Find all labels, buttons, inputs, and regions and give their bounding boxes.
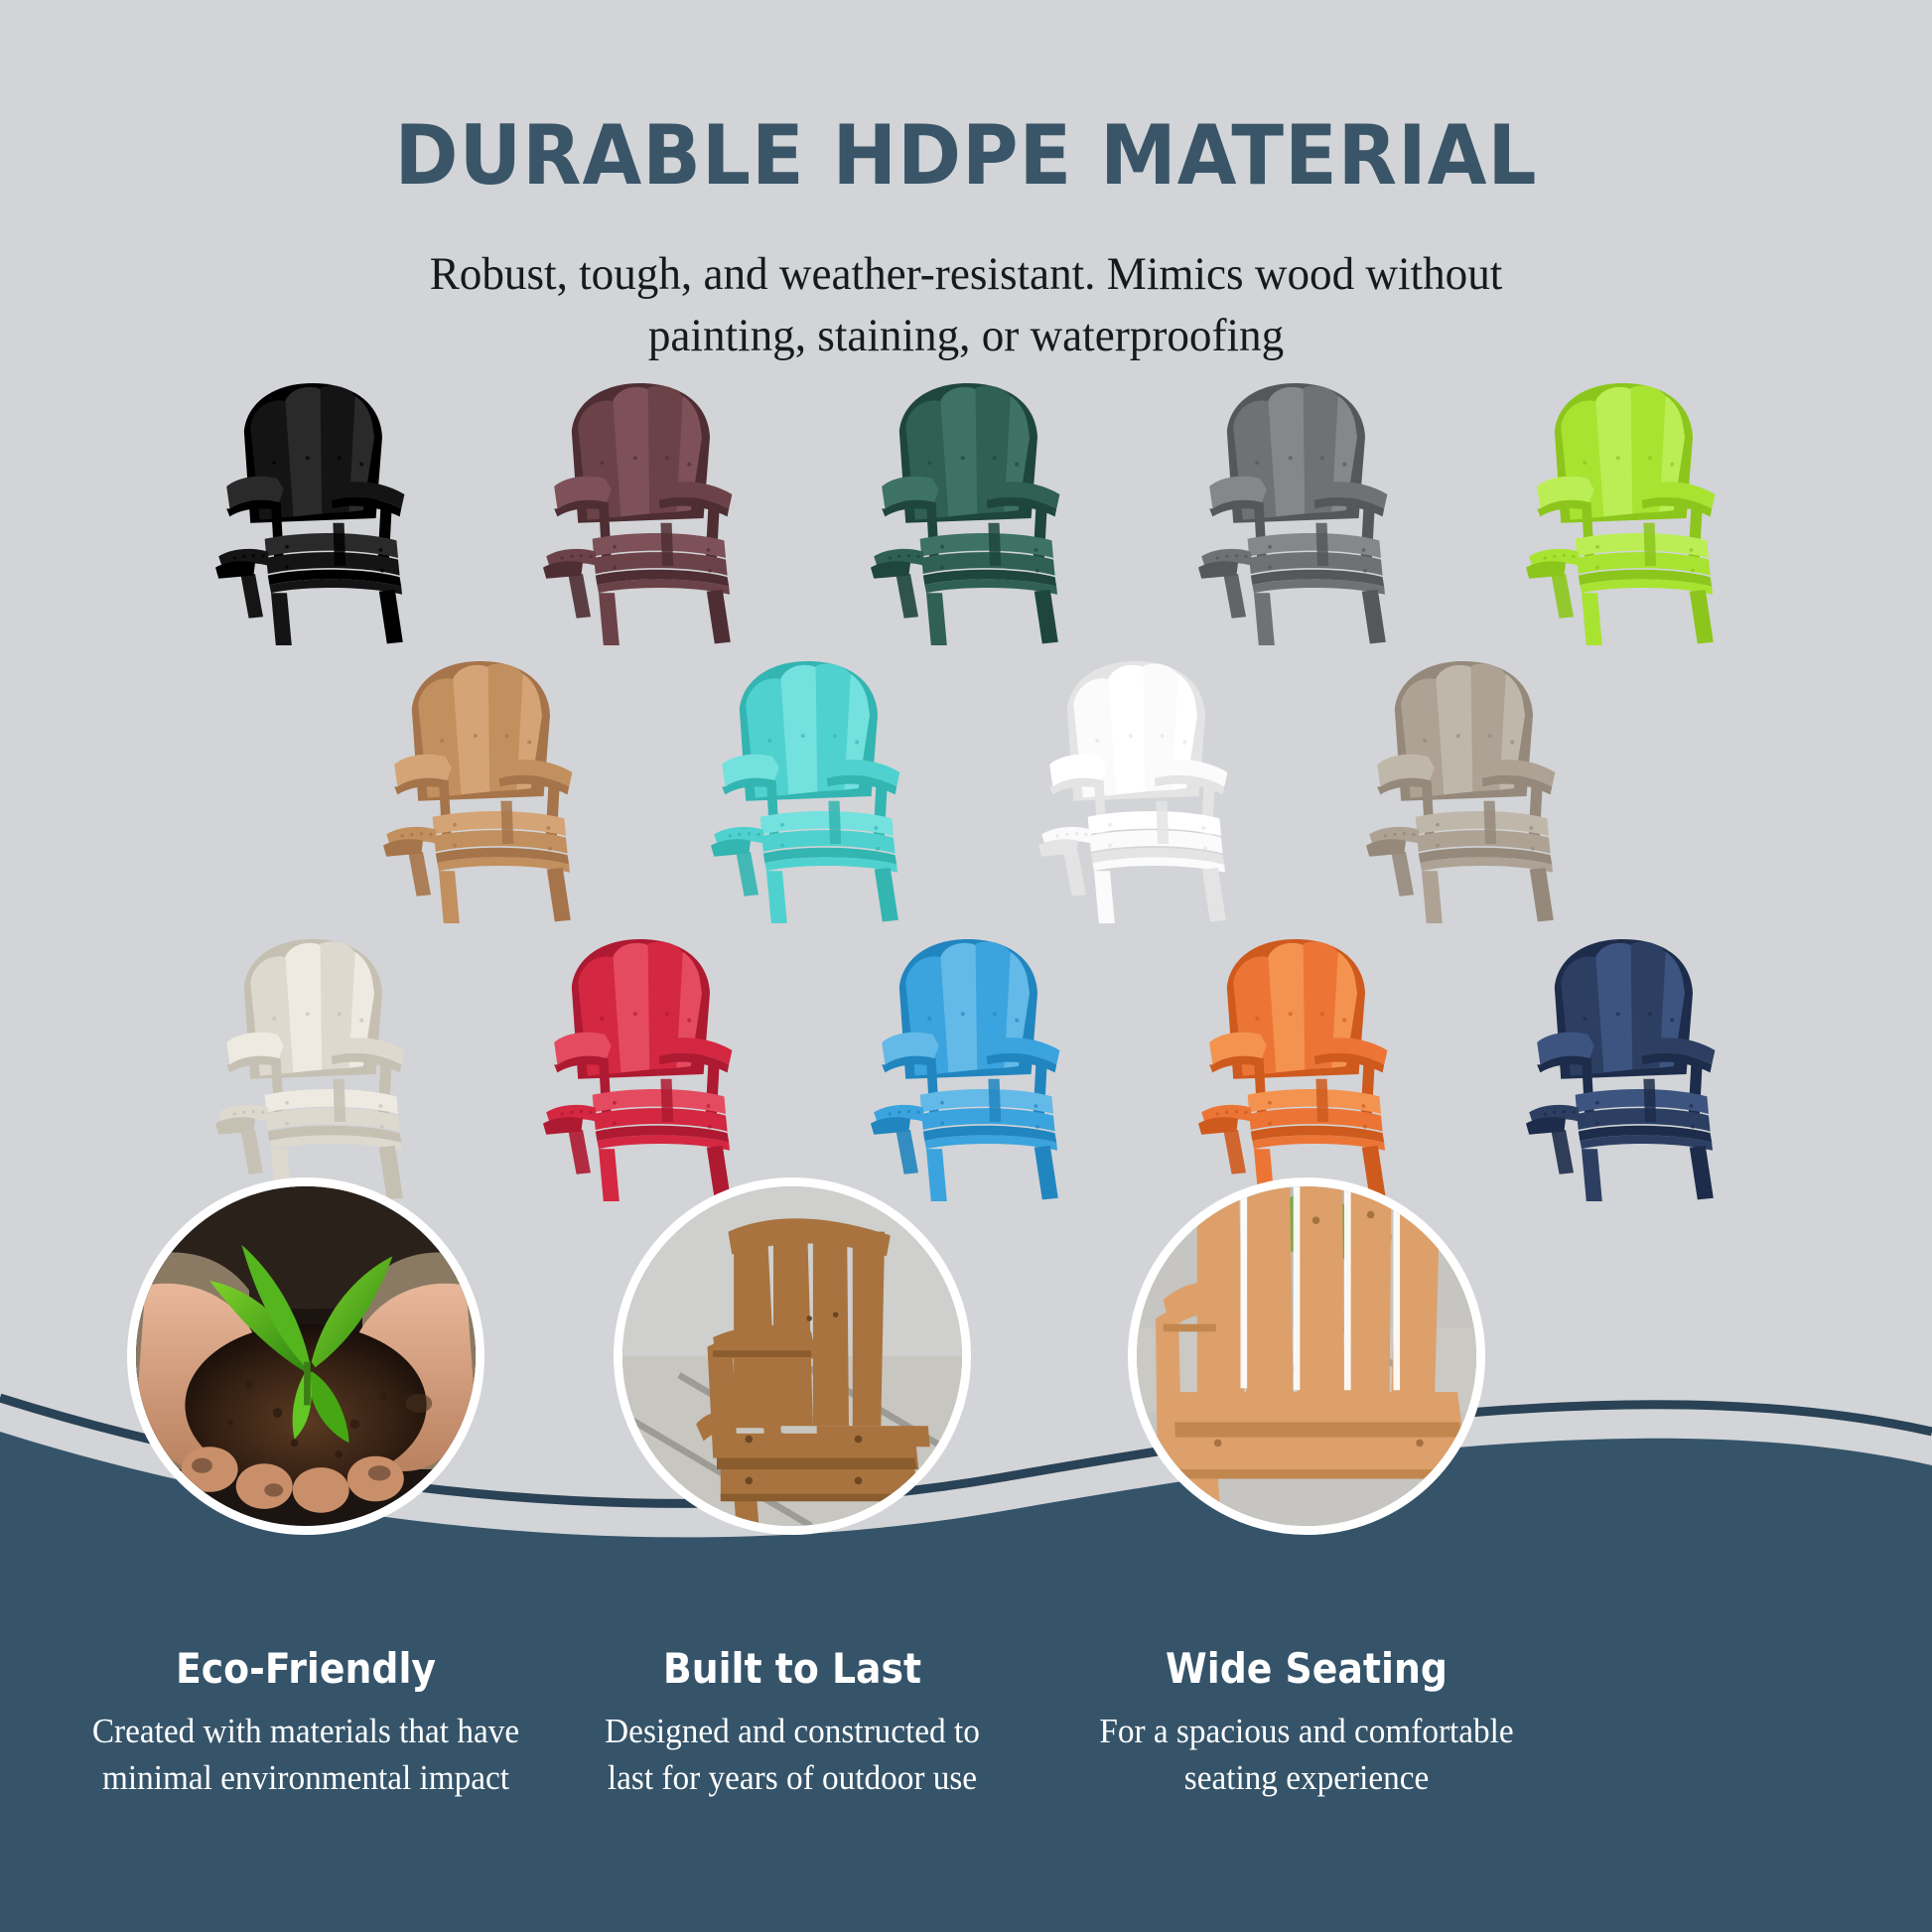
chair-swatch-blue[interactable] bbox=[823, 923, 1109, 1209]
chair-swatch-red[interactable] bbox=[495, 923, 781, 1209]
feature-title: Eco-Friendly bbox=[96, 1644, 516, 1693]
feature-title: Built to Last bbox=[583, 1644, 1003, 1693]
chair-swatch-turquoise[interactable] bbox=[663, 645, 949, 931]
page-title: DURABLE HDPE MATERIAL bbox=[68, 107, 1864, 204]
chair-swatch-dark-green[interactable] bbox=[823, 367, 1109, 653]
chair-swatch-light-brown[interactable] bbox=[336, 645, 621, 931]
feature-title: Wide Seating bbox=[1097, 1644, 1517, 1693]
feature-desc-line-1: Created with materials that have bbox=[84, 1709, 528, 1755]
feature-desc-line-1: Designed and constructed to bbox=[571, 1709, 1015, 1755]
feature-description: Designed and constructed to last for yea… bbox=[571, 1709, 1015, 1802]
chair-row-1 bbox=[0, 367, 1932, 653]
header: DURABLE HDPE MATERIAL Robust, tough, and… bbox=[0, 0, 1932, 366]
chair-swatch-orange[interactable] bbox=[1151, 923, 1437, 1209]
subtitle-line-2: painting, staining, or waterproofing bbox=[39, 305, 1893, 366]
feature-image-eco-friendly bbox=[127, 1177, 484, 1535]
feature-description: Created with materials that have minimal… bbox=[84, 1709, 528, 1802]
hands-holding-seedling-icon bbox=[136, 1186, 476, 1526]
chair-swatch-ivory[interactable] bbox=[168, 923, 454, 1209]
chair-swatch-gray[interactable] bbox=[1151, 367, 1437, 653]
chair-row-3 bbox=[0, 923, 1932, 1209]
chair-swatch-weathered-wood[interactable] bbox=[1318, 645, 1604, 931]
patio-chair-photo-icon bbox=[622, 1186, 962, 1526]
chair-row-2 bbox=[0, 645, 1932, 931]
chair-swatch-lime-green[interactable] bbox=[1478, 367, 1764, 653]
feature-eco-friendly: Eco-Friendly Created with materials that… bbox=[72, 1644, 539, 1802]
feature-image-built-to-last bbox=[614, 1177, 971, 1535]
page-subtitle: Robust, tough, and weather-resistant. Mi… bbox=[39, 243, 1893, 366]
wide-seat-closeup-icon bbox=[1137, 1186, 1476, 1526]
feature-desc-line-2: last for years of outdoor use bbox=[571, 1755, 1015, 1802]
feature-desc-line-2: minimal environmental impact bbox=[84, 1755, 528, 1802]
chair-swatch-white[interactable] bbox=[991, 645, 1277, 931]
feature-desc-line-2: seating experience bbox=[1085, 1755, 1529, 1802]
feature-built-to-last: Built to Last Designed and constructed t… bbox=[559, 1644, 1026, 1802]
chair-swatch-navy-blue[interactable] bbox=[1478, 923, 1764, 1209]
feature-wide-seating: Wide Seating For a spacious and comforta… bbox=[1073, 1644, 1540, 1802]
chair-color-grid bbox=[0, 367, 1932, 1209]
feature-image-wide-seating bbox=[1128, 1177, 1485, 1535]
chair-swatch-wine-red[interactable] bbox=[495, 367, 781, 653]
feature-description: For a spacious and comfortable seating e… bbox=[1085, 1709, 1529, 1802]
feature-desc-line-1: For a spacious and comfortable bbox=[1085, 1709, 1529, 1755]
chair-swatch-black[interactable] bbox=[168, 367, 454, 653]
subtitle-line-1: Robust, tough, and weather-resistant. Mi… bbox=[39, 243, 1893, 305]
